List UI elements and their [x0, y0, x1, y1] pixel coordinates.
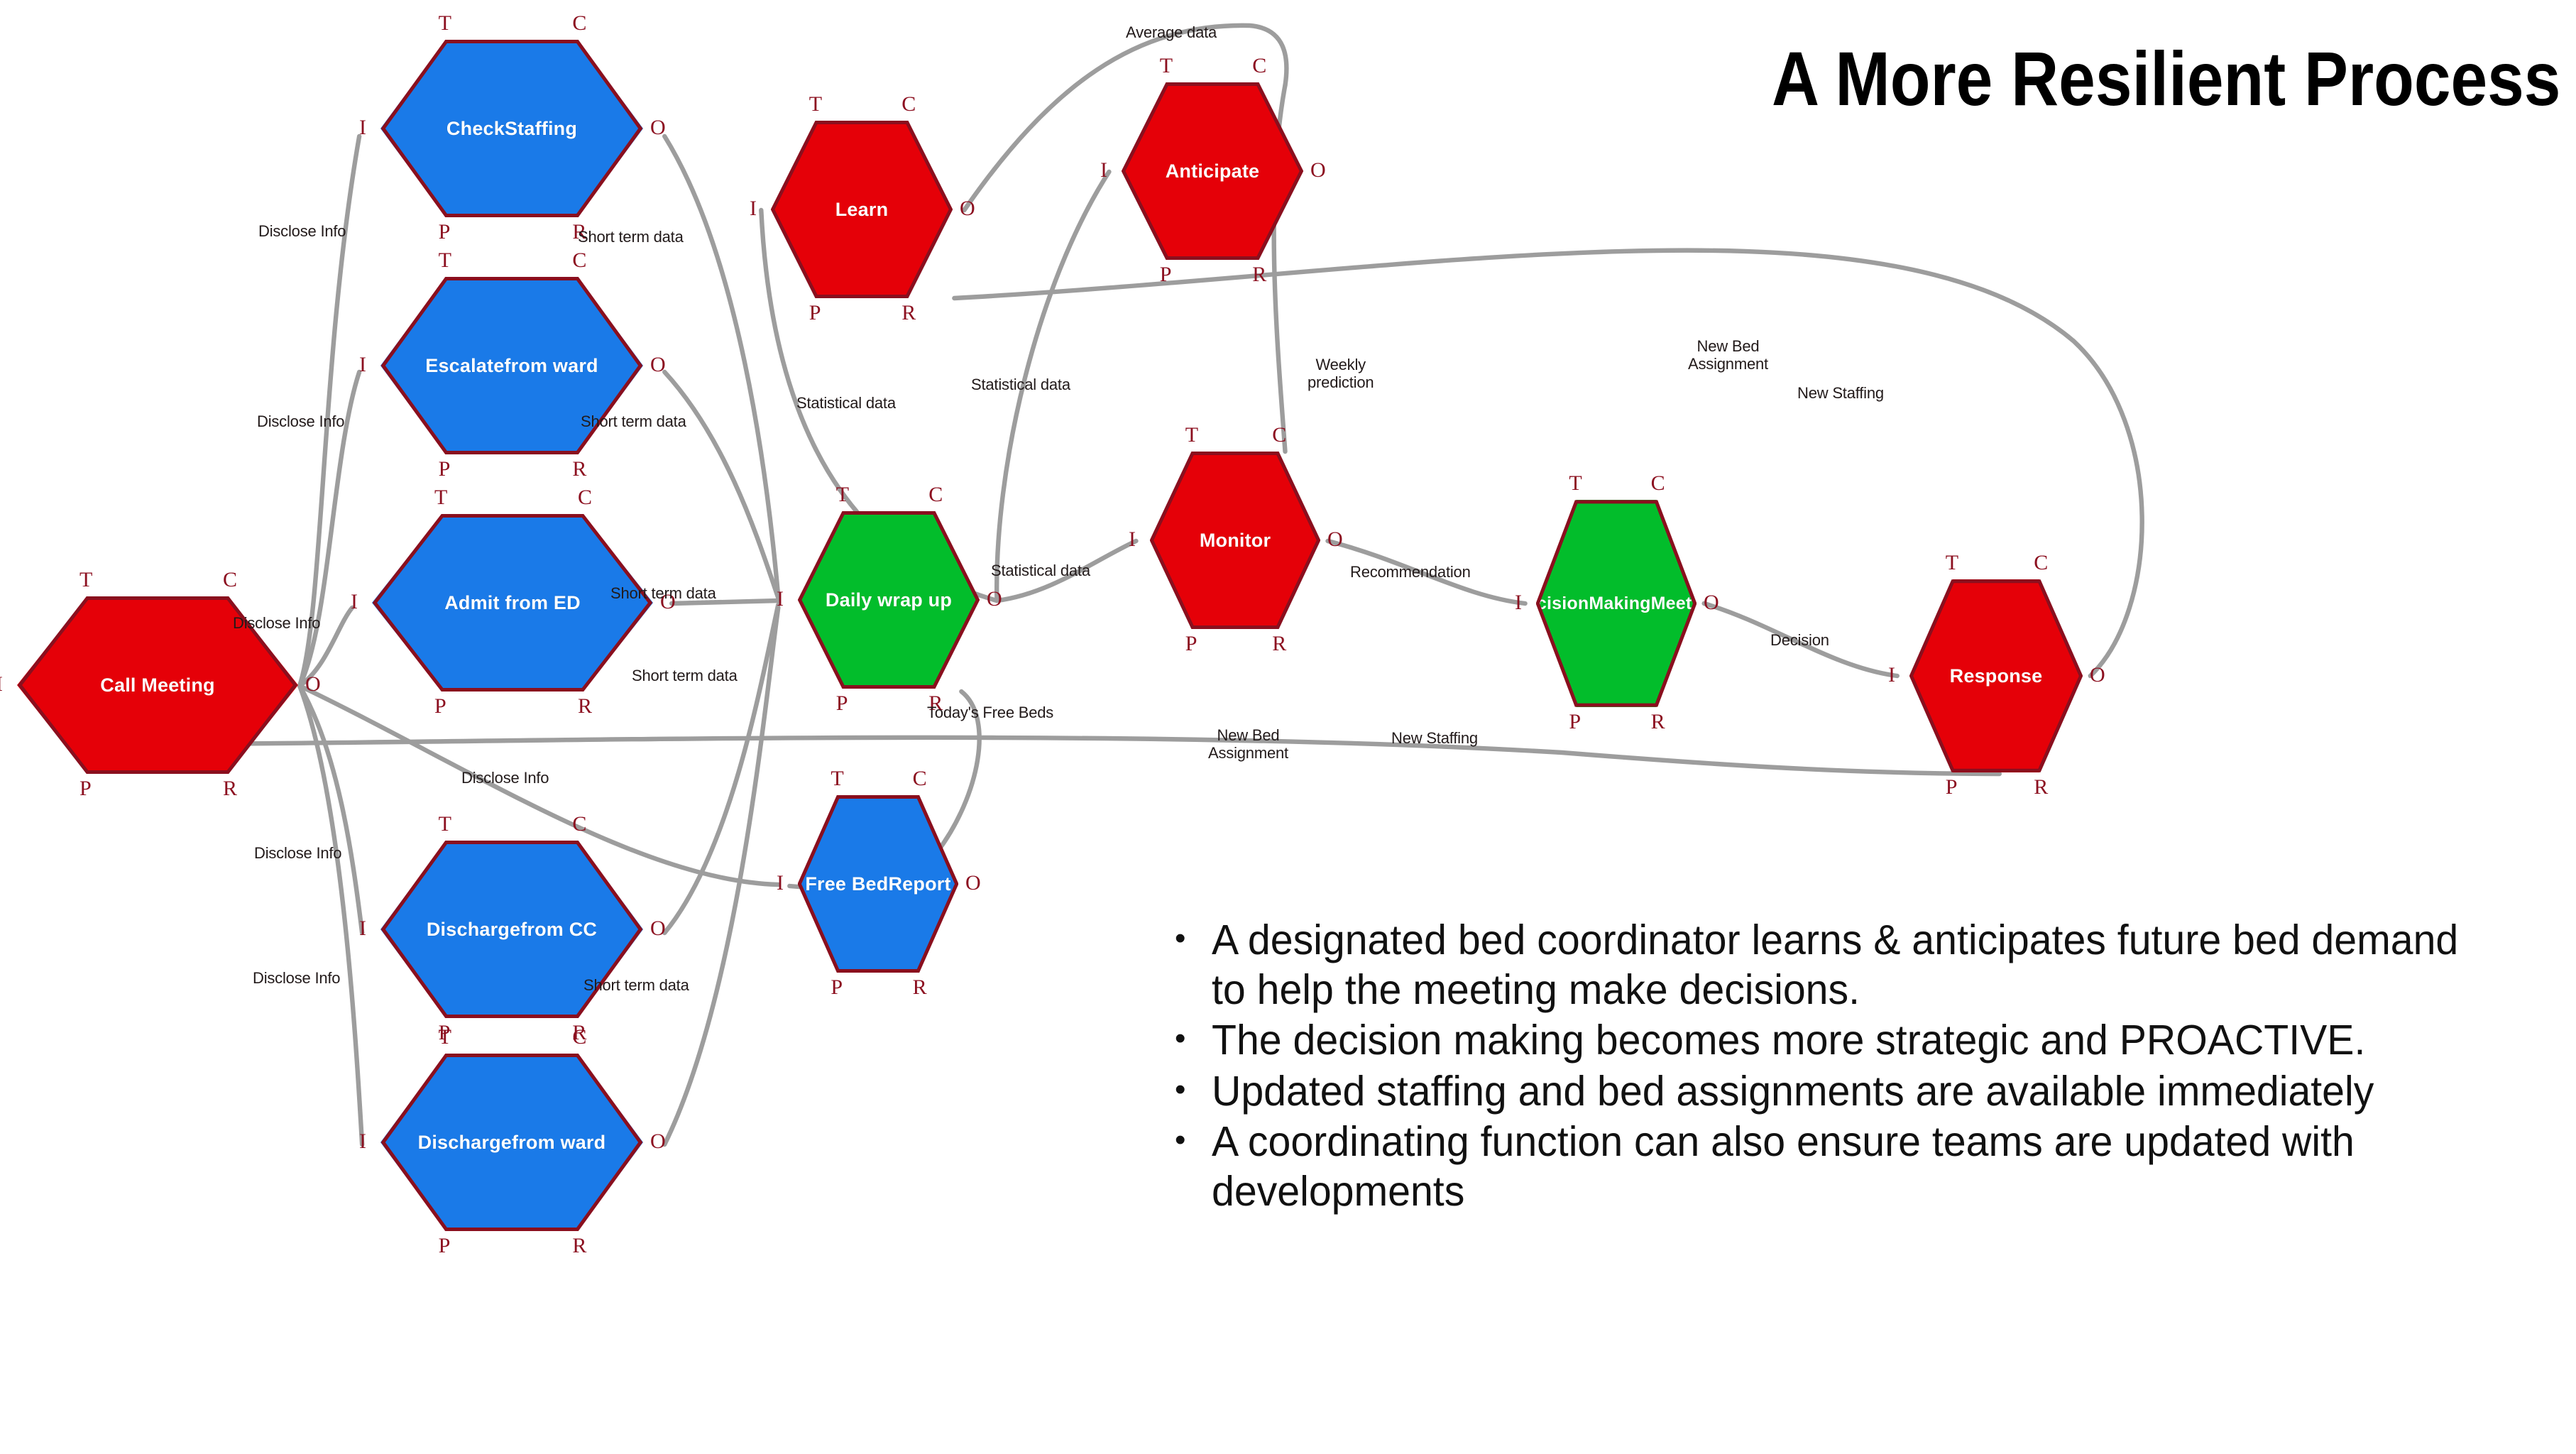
edge-label-average-data: Average data: [1126, 24, 1217, 42]
plug-i-daily-wrap-up: I: [777, 589, 784, 610]
node-shape-learn: Learn: [771, 121, 953, 298]
bullet-item: •A designated bed coordinator learns & a…: [1175, 916, 2523, 1015]
plug-o-monitor: O: [1327, 529, 1343, 550]
node-admit-from-ed[interactable]: Admit from ED: [372, 514, 653, 692]
plug-i-decision-making-meeting: I: [1515, 592, 1522, 613]
plug-p-learn: P: [809, 302, 821, 324]
node-decision-making-meeting[interactable]: DecisionMakingMeeting: [1536, 500, 1697, 707]
node-shape-discharge-from-ward: Dischargefrom ward: [380, 1054, 643, 1231]
node-shape-anticipate: Anticipate: [1122, 82, 1303, 260]
plug-i-admit-from-ed: I: [351, 591, 358, 613]
node-daily-wrap-up[interactable]: Daily wrap up: [798, 511, 980, 689]
edge-label-disclose-info-6: Disclose Info: [253, 970, 340, 988]
plug-r-admit-from-ed: R: [578, 696, 592, 717]
plug-c-discharge-from-ward: C: [572, 1027, 586, 1048]
plug-p-call-meeting: P: [80, 778, 92, 799]
plug-t-discharge-from-ward: T: [439, 1027, 451, 1048]
plug-t-learn: T: [809, 94, 822, 115]
edge-label-short-term-data-2: Short term data: [581, 413, 686, 431]
node-shape-response: Response: [1909, 579, 2083, 772]
edge-label-todays-free-beds: Today's Free Beds: [927, 704, 1053, 722]
node-free-bed-report[interactable]: Free BedReport: [798, 795, 958, 973]
node-learn[interactable]: Learn: [771, 121, 953, 298]
plug-r-monitor: R: [1272, 633, 1286, 655]
plug-c-free-bed-report: C: [913, 768, 927, 789]
edge-label-weekly-prediction: Weekly prediction: [1308, 356, 1374, 391]
node-discharge-from-ward[interactable]: Dischargefrom ward: [380, 1054, 643, 1231]
plug-t-admit-from-ed: T: [434, 487, 447, 508]
node-anticipate[interactable]: Anticipate: [1122, 82, 1303, 260]
plug-c-response: C: [2034, 552, 2048, 574]
plug-c-admit-from-ed: C: [578, 487, 592, 508]
plug-t-response: T: [1946, 552, 1958, 574]
edge-label-short-term-data-5: Short term data: [583, 977, 689, 995]
plug-o-anticipate: O: [1310, 160, 1326, 181]
plug-p-discharge-from-ward: P: [439, 1235, 451, 1257]
node-response[interactable]: Response: [1909, 579, 2083, 772]
plug-o-escalate-from-ward: O: [650, 354, 666, 376]
plug-r-response: R: [2034, 777, 2048, 798]
bullet-text: Updated staffing and bed assignments are…: [1212, 1067, 2484, 1117]
bullet-marker-icon: •: [1175, 1067, 1212, 1117]
node-monitor[interactable]: Monitor: [1150, 452, 1320, 629]
node-shape-free-bed-report: Free BedReport: [798, 795, 958, 973]
plug-i-escalate-from-ward: I: [359, 354, 366, 376]
edge-label-disclose-info-2: Disclose Info: [257, 413, 344, 431]
plug-o-free-bed-report: O: [965, 873, 981, 894]
plug-r-learn: R: [901, 302, 916, 324]
bullet-item: •The decision making becomes more strate…: [1175, 1016, 2523, 1066]
edge-label-statistical-data-2: Statistical data: [971, 376, 1070, 394]
edge-label-new-bed-assign-bot: New Bed Assignment: [1208, 727, 1288, 762]
plug-c-escalate-from-ward: C: [572, 250, 586, 271]
edge-label-statistical-data-1: Statistical data: [796, 395, 896, 412]
plug-p-check-staffing: P: [439, 222, 451, 243]
plug-i-discharge-from-ward: I: [359, 1131, 366, 1152]
plug-c-daily-wrap-up: C: [928, 484, 943, 505]
bullet-marker-icon: •: [1175, 1117, 1212, 1216]
plug-i-monitor: I: [1129, 529, 1136, 550]
node-check-staffing[interactable]: CheckStaffing: [380, 40, 643, 217]
bullet-item: •Updated staffing and bed assignments ar…: [1175, 1067, 2523, 1117]
edge-label-decision: Decision: [1770, 632, 1829, 650]
plug-r-escalate-from-ward: R: [572, 459, 586, 480]
node-shape-monitor: Monitor: [1150, 452, 1320, 629]
plug-c-check-staffing: C: [572, 13, 586, 34]
plug-o-decision-making-meeting: O: [1704, 592, 1719, 613]
plug-p-daily-wrap-up: P: [836, 693, 848, 714]
node-shape-admit-from-ed: Admit from ED: [372, 514, 653, 692]
bullet-text: The decision making becomes more strateg…: [1212, 1016, 2484, 1066]
plug-o-discharge-from-ward: O: [650, 1131, 666, 1152]
plug-i-free-bed-report: I: [777, 873, 784, 894]
plug-i-discharge-from-cc: I: [359, 918, 366, 939]
bullet-list: •A designated bed coordinator learns & a…: [1175, 916, 2523, 1218]
edge-label-new-bed-assign-top: New Bed Assignment: [1688, 338, 1768, 373]
plug-t-decision-making-meeting: T: [1569, 473, 1582, 494]
plug-t-daily-wrap-up: T: [836, 484, 849, 505]
plug-o-call-meeting: O: [305, 674, 321, 695]
plug-p-response: P: [1946, 777, 1958, 798]
plug-r-decision-making-meeting: R: [1651, 711, 1665, 733]
plug-p-admit-from-ed: P: [434, 696, 446, 717]
plug-i-learn: I: [750, 198, 757, 219]
bullet-marker-icon: •: [1175, 916, 1212, 1015]
plug-o-check-staffing: O: [650, 117, 666, 138]
bullet-marker-icon: •: [1175, 1016, 1212, 1066]
plug-r-free-bed-report: R: [913, 977, 927, 998]
plug-p-monitor: P: [1185, 633, 1197, 655]
plug-i-response: I: [1888, 665, 1895, 686]
plug-p-anticipate: P: [1160, 264, 1172, 285]
node-shape-check-staffing: CheckStaffing: [380, 40, 643, 217]
bullet-text: A coordinating function can also ensure …: [1212, 1117, 2484, 1216]
plug-r-discharge-from-ward: R: [572, 1235, 586, 1257]
plug-t-escalate-from-ward: T: [439, 250, 451, 271]
plug-p-free-bed-report: P: [831, 977, 843, 998]
node-shape-decision-making-meeting: DecisionMakingMeeting: [1536, 500, 1697, 707]
edge-label-disclose-info-1: Disclose Info: [258, 223, 346, 241]
edge-label-recommendation: Recommendation: [1350, 564, 1471, 581]
plug-o-learn: O: [960, 198, 975, 219]
plug-c-anticipate: C: [1252, 55, 1266, 77]
edge-label-disclose-info-4: Disclose Info: [461, 770, 549, 787]
plug-t-monitor: T: [1185, 425, 1198, 446]
edge-label-short-term-data-4: Short term data: [632, 667, 738, 685]
plug-c-discharge-from-cc: C: [572, 814, 586, 835]
plug-t-call-meeting: T: [80, 569, 92, 591]
plug-o-daily-wrap-up: O: [987, 589, 1002, 610]
edge-label-disclose-info-5: Disclose Info: [254, 845, 341, 863]
slide-canvas: CheckStaffingTCIOPREscalatefrom wardTCIO…: [0, 0, 2576, 1454]
edge-label-short-term-data-3: Short term data: [610, 585, 716, 603]
plug-r-call-meeting: R: [223, 778, 237, 799]
plug-o-response: O: [2090, 665, 2105, 686]
plug-i-check-staffing: I: [359, 117, 366, 138]
plug-t-check-staffing: T: [439, 13, 451, 34]
plug-c-monitor: C: [1272, 425, 1286, 446]
plug-i-anticipate: I: [1100, 160, 1107, 181]
edge-label-statistical-data-3: Statistical data: [991, 562, 1090, 580]
bullet-item: •A coordinating function can also ensure…: [1175, 1117, 2523, 1216]
plug-o-discharge-from-cc: O: [650, 918, 666, 939]
plug-i-call-meeting: I: [0, 674, 3, 695]
plug-p-escalate-from-ward: P: [439, 459, 451, 480]
plug-c-decision-making-meeting: C: [1651, 473, 1665, 494]
edge-label-new-staffing-top: New Staffing: [1797, 385, 1884, 403]
edge-label-disclose-info-3: Disclose Info: [233, 615, 320, 633]
plug-t-anticipate: T: [1160, 55, 1173, 77]
edge-label-short-term-data-1: Short term data: [578, 229, 684, 246]
plug-t-free-bed-report: T: [831, 768, 843, 789]
page-title: A More Resilient Process: [1771, 34, 2560, 123]
bullet-text: A designated bed coordinator learns & an…: [1212, 916, 2484, 1015]
edge-label-new-staffing-bot: New Staffing: [1391, 730, 1478, 748]
plug-t-discharge-from-cc: T: [439, 814, 451, 835]
plug-c-call-meeting: C: [223, 569, 237, 591]
plug-r-anticipate: R: [1252, 264, 1266, 285]
node-shape-daily-wrap-up: Daily wrap up: [798, 511, 980, 689]
plug-p-decision-making-meeting: P: [1569, 711, 1581, 733]
plug-c-learn: C: [901, 94, 916, 115]
